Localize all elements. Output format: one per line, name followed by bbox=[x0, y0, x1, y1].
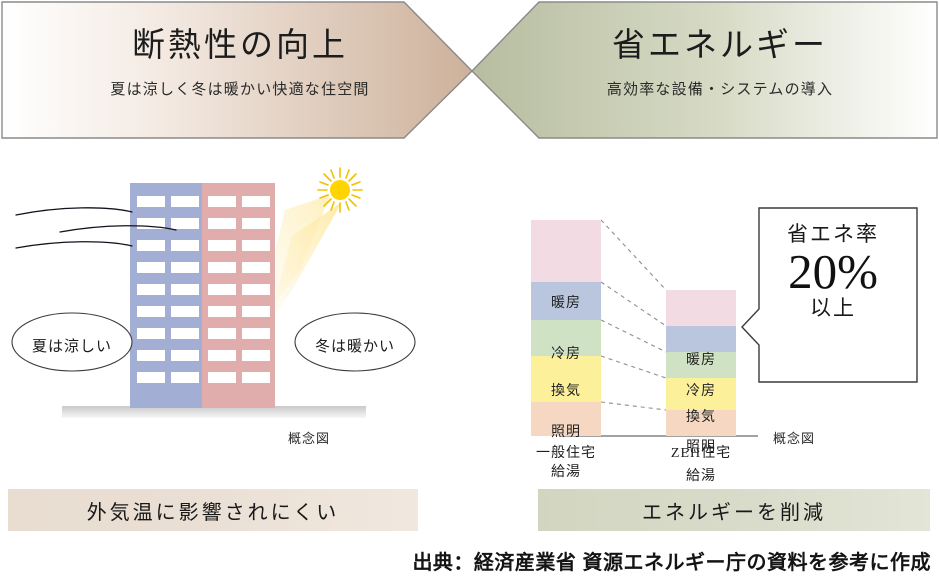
energy-chart: 暖房 冷房 換気 照明 給湯 暖房 冷房 換気 照明 給湯 一般住宅 ZEH住宅… bbox=[470, 150, 939, 475]
insulation-illustration: 夏は涼しい 冬は暖かい 概念図 bbox=[0, 150, 470, 475]
axis-label-zeh-house: ZEH住宅 bbox=[656, 442, 746, 462]
conceptual-diagram-note-left: 概念図 bbox=[288, 428, 330, 447]
chart-connectors bbox=[601, 220, 666, 410]
bar-general-seg-cooling bbox=[531, 282, 601, 320]
banner-header: 断熱性の向上 夏は涼しく冬は暖かい快適な住空間 省エネルギー 高効率な設備・シス… bbox=[0, 0, 939, 142]
bar-zeh-seg-ventilation bbox=[666, 352, 736, 378]
bar-zeh-seg-lighting bbox=[666, 378, 736, 410]
bar-general-seg-heating bbox=[531, 220, 601, 282]
savings-callout-box bbox=[742, 208, 917, 382]
energy-chart-svg bbox=[470, 150, 939, 475]
axis-label-general-house: 一般住宅 bbox=[521, 442, 611, 462]
banner-right-chevron bbox=[472, 2, 937, 138]
footer-right-label: エネルギーを削減 bbox=[538, 489, 930, 531]
bar-zeh-seg-heating bbox=[666, 290, 736, 326]
source-attribution: 出典：経済産業省 資源エネルギー庁の資料を参考に作成 bbox=[412, 546, 931, 575]
bar-general-seg-lighting bbox=[531, 356, 601, 402]
bar-zeh-seg-hotwater bbox=[666, 410, 736, 436]
bar-general-seg-ventilation bbox=[531, 320, 601, 356]
bar-zeh-house bbox=[666, 290, 736, 436]
conceptual-diagram-note-right: 概念図 bbox=[773, 428, 815, 447]
footer-left-label: 外気温に影響されにくい bbox=[8, 489, 418, 531]
summer-callout-ellipse bbox=[12, 313, 132, 371]
banner-shapes bbox=[0, 0, 939, 142]
infographic-page: 断熱性の向上 夏は涼しく冬は暖かい快適な住空間 省エネルギー 高効率な設備・シス… bbox=[0, 0, 939, 583]
winter-callout-ellipse bbox=[295, 313, 415, 371]
bar-zeh-seg-cooling bbox=[666, 326, 736, 352]
banner-left-chevron bbox=[2, 2, 472, 138]
insulation-illustration-svg bbox=[0, 150, 470, 475]
sun-icon bbox=[318, 168, 362, 212]
bar-general-house bbox=[531, 220, 601, 436]
bar-general-seg-hotwater bbox=[531, 402, 601, 436]
